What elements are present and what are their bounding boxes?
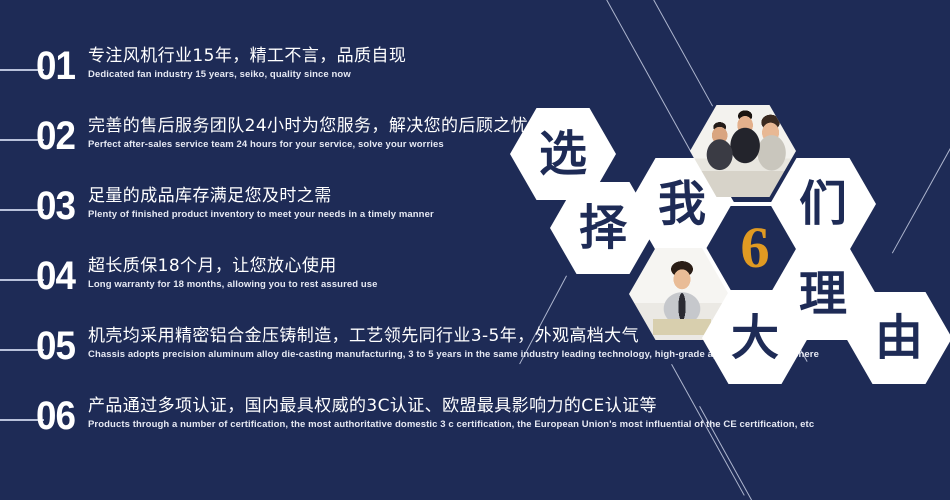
- promo-banner: 01专注风机行业15年，精工不言，品质自现Dedicated fan indus…: [0, 0, 950, 500]
- hexagon-headline-cluster: 选择我6大们理由: [0, 0, 950, 500]
- hexagon-glyph: 大: [731, 314, 779, 362]
- hexagon-glyph: 择: [579, 204, 627, 252]
- hexagon-glyph: 我: [658, 180, 706, 228]
- hexagon-glyph: 理: [799, 270, 847, 318]
- hexagon-glyph: 们: [799, 180, 847, 228]
- hexagon-glyph: 选: [539, 130, 587, 178]
- hexagon-glyph: 6: [740, 226, 769, 270]
- hexagon-glyph: 由: [875, 314, 923, 362]
